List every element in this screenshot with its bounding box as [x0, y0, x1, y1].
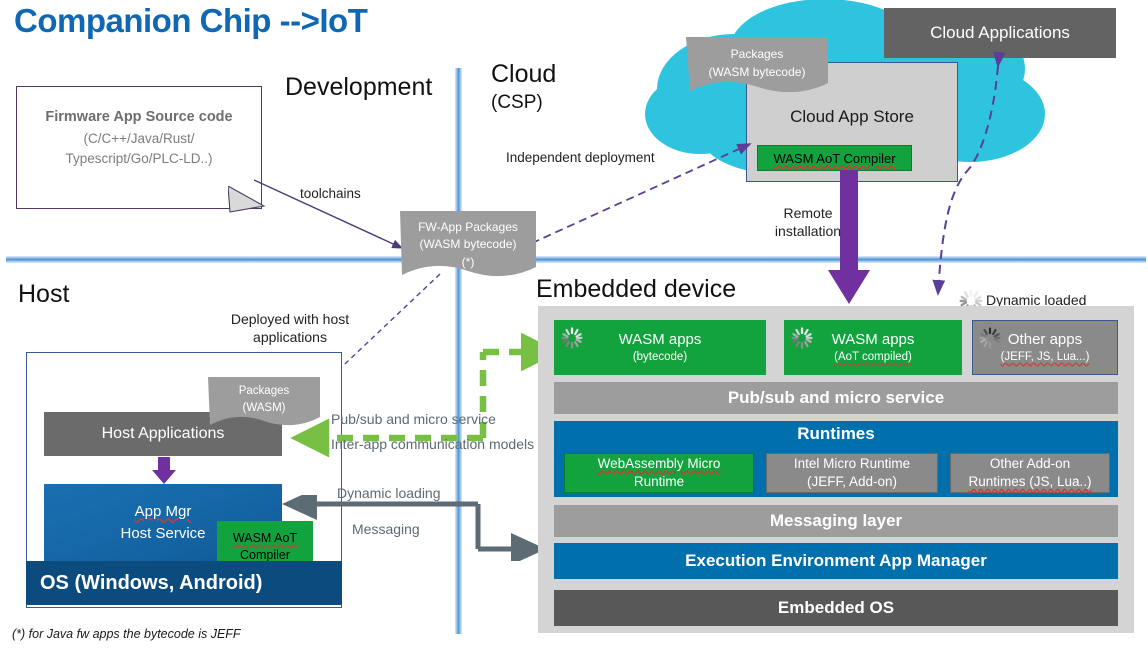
app-mgr-line1: App Mgr: [135, 501, 192, 524]
app-mgr-line2: Host Service: [120, 523, 205, 546]
host-internal-arrow: [151, 457, 177, 485]
cloud-applications-label: Cloud Applications: [930, 23, 1070, 43]
host-applications-label: Host Applications: [102, 425, 225, 443]
label-pubsub-models-1: Pub/sub and micro service: [331, 411, 496, 427]
execution-environment-app-manager-bar: Execution Environment App Manager: [554, 543, 1118, 579]
label-deployed-with-host-1: Deployed with host: [205, 310, 375, 328]
source-box-line1: (C/C++/Java/Rust/: [17, 129, 261, 149]
diagram-canvas: Companion Chip -->IoT Development Cloud …: [0, 0, 1148, 653]
firmware-source-code-box: Firmware App Source code (C/C++/Java/Rus…: [16, 86, 262, 209]
fw-app-packages-line2: (WASM bytecode): [400, 236, 536, 253]
embedded-app-0-sub: (bytecode): [633, 350, 687, 365]
runtime-0: WebAssembly Micro Runtime: [564, 453, 754, 493]
cloud-wasm-aot-compiler-label: WASM AoT Compiler: [773, 151, 895, 166]
page-title: Companion Chip -->IoT: [14, 2, 367, 40]
region-label-cloud: Cloud: [491, 61, 556, 87]
runtime-0-line1: WebAssembly Micro: [598, 455, 721, 473]
embedded-os-label: Embedded OS: [778, 598, 894, 618]
runtime-1-line1: Intel Micro Runtime: [794, 455, 910, 473]
pubsub-bar-label: Pub/sub and micro service: [728, 388, 944, 408]
runtime-2-line2: Runtimes (JS, Lua..): [968, 473, 1091, 491]
label-messaging: Messaging: [352, 521, 420, 537]
cloud-wasm-aot-compiler: WASM AoT Compiler: [757, 145, 912, 171]
runtimes-title: Runtimes: [554, 421, 1118, 447]
footnote: (*) for Java fw apps the bytecode is JEF…: [12, 627, 241, 641]
runtime-1: Intel Micro Runtime (JEFF, Add-on): [766, 453, 938, 493]
runtime-2: Other Add-on Runtimes (JS, Lua..): [950, 453, 1110, 493]
label-remote-installation-2: installation: [760, 222, 856, 240]
cloud-packages-line1: Packages: [686, 45, 828, 63]
label-remote-installation-1: Remote: [760, 204, 856, 222]
label-toolchains: toolchains: [300, 186, 361, 201]
toolchains-arrow: [250, 170, 420, 260]
host-os-bar: OS (Windows, Android): [26, 561, 342, 605]
embedded-app-0: WASM apps (bytecode): [554, 320, 766, 375]
embedded-app-0-name: WASM apps: [619, 330, 702, 350]
region-label-development: Development: [285, 74, 432, 100]
runtime-1-line2: (JEFF, Add-on): [807, 473, 897, 491]
pubsub-bar: Pub/sub and micro service: [554, 382, 1118, 414]
embedded-os-bar: Embedded OS: [554, 590, 1118, 626]
cloud-packages-callout: Packages (WASM bytecode): [686, 37, 828, 104]
embedded-app-0-spinner-icon: [560, 326, 584, 350]
runtime-2-line1: Other Add-on: [990, 455, 1070, 473]
fw-app-packages-line1: FW-App Packages: [400, 219, 536, 236]
region-label-embedded-device: Embedded device: [536, 276, 736, 302]
embedded-app-2-spinner-icon: [978, 326, 1002, 350]
embedded-app-1-name: WASM apps: [832, 330, 915, 350]
region-label-cloud-sub: (CSP): [491, 92, 543, 114]
host-os-label: OS (Windows, Android): [40, 572, 262, 595]
label-dynamic-loading: Dynamic loading: [337, 485, 441, 501]
source-box-heading: Firmware App Source code: [17, 109, 261, 125]
label-independent-deployment: Independent deployment: [506, 150, 655, 165]
fw-app-packages-line3: (*): [400, 254, 536, 271]
embedded-app-1-sub: (AoT compiled): [834, 350, 912, 365]
source-box-line2: Typescript/Go/PLC-LD..): [17, 149, 261, 169]
region-label-host: Host: [18, 281, 69, 307]
execution-environment-app-manager-label: Execution Environment App Manager: [685, 551, 987, 571]
cloud-device-dashed-arrow: [920, 44, 1010, 316]
embedded-app-2-sub: (JEFF, JS, Lua...): [1001, 350, 1090, 365]
runtime-0-line2: Runtime: [634, 473, 684, 491]
label-pubsub-models-2: Inter-app communication models: [331, 436, 534, 452]
embedded-app-1-spinner-icon: [790, 326, 814, 350]
cloud-packages-line2: (WASM bytecode): [686, 63, 828, 81]
messaging-layer-bar: Messaging layer: [554, 505, 1118, 537]
embedded-app-2-name: Other apps: [1008, 330, 1082, 350]
messaging-layer-label: Messaging layer: [770, 511, 902, 531]
